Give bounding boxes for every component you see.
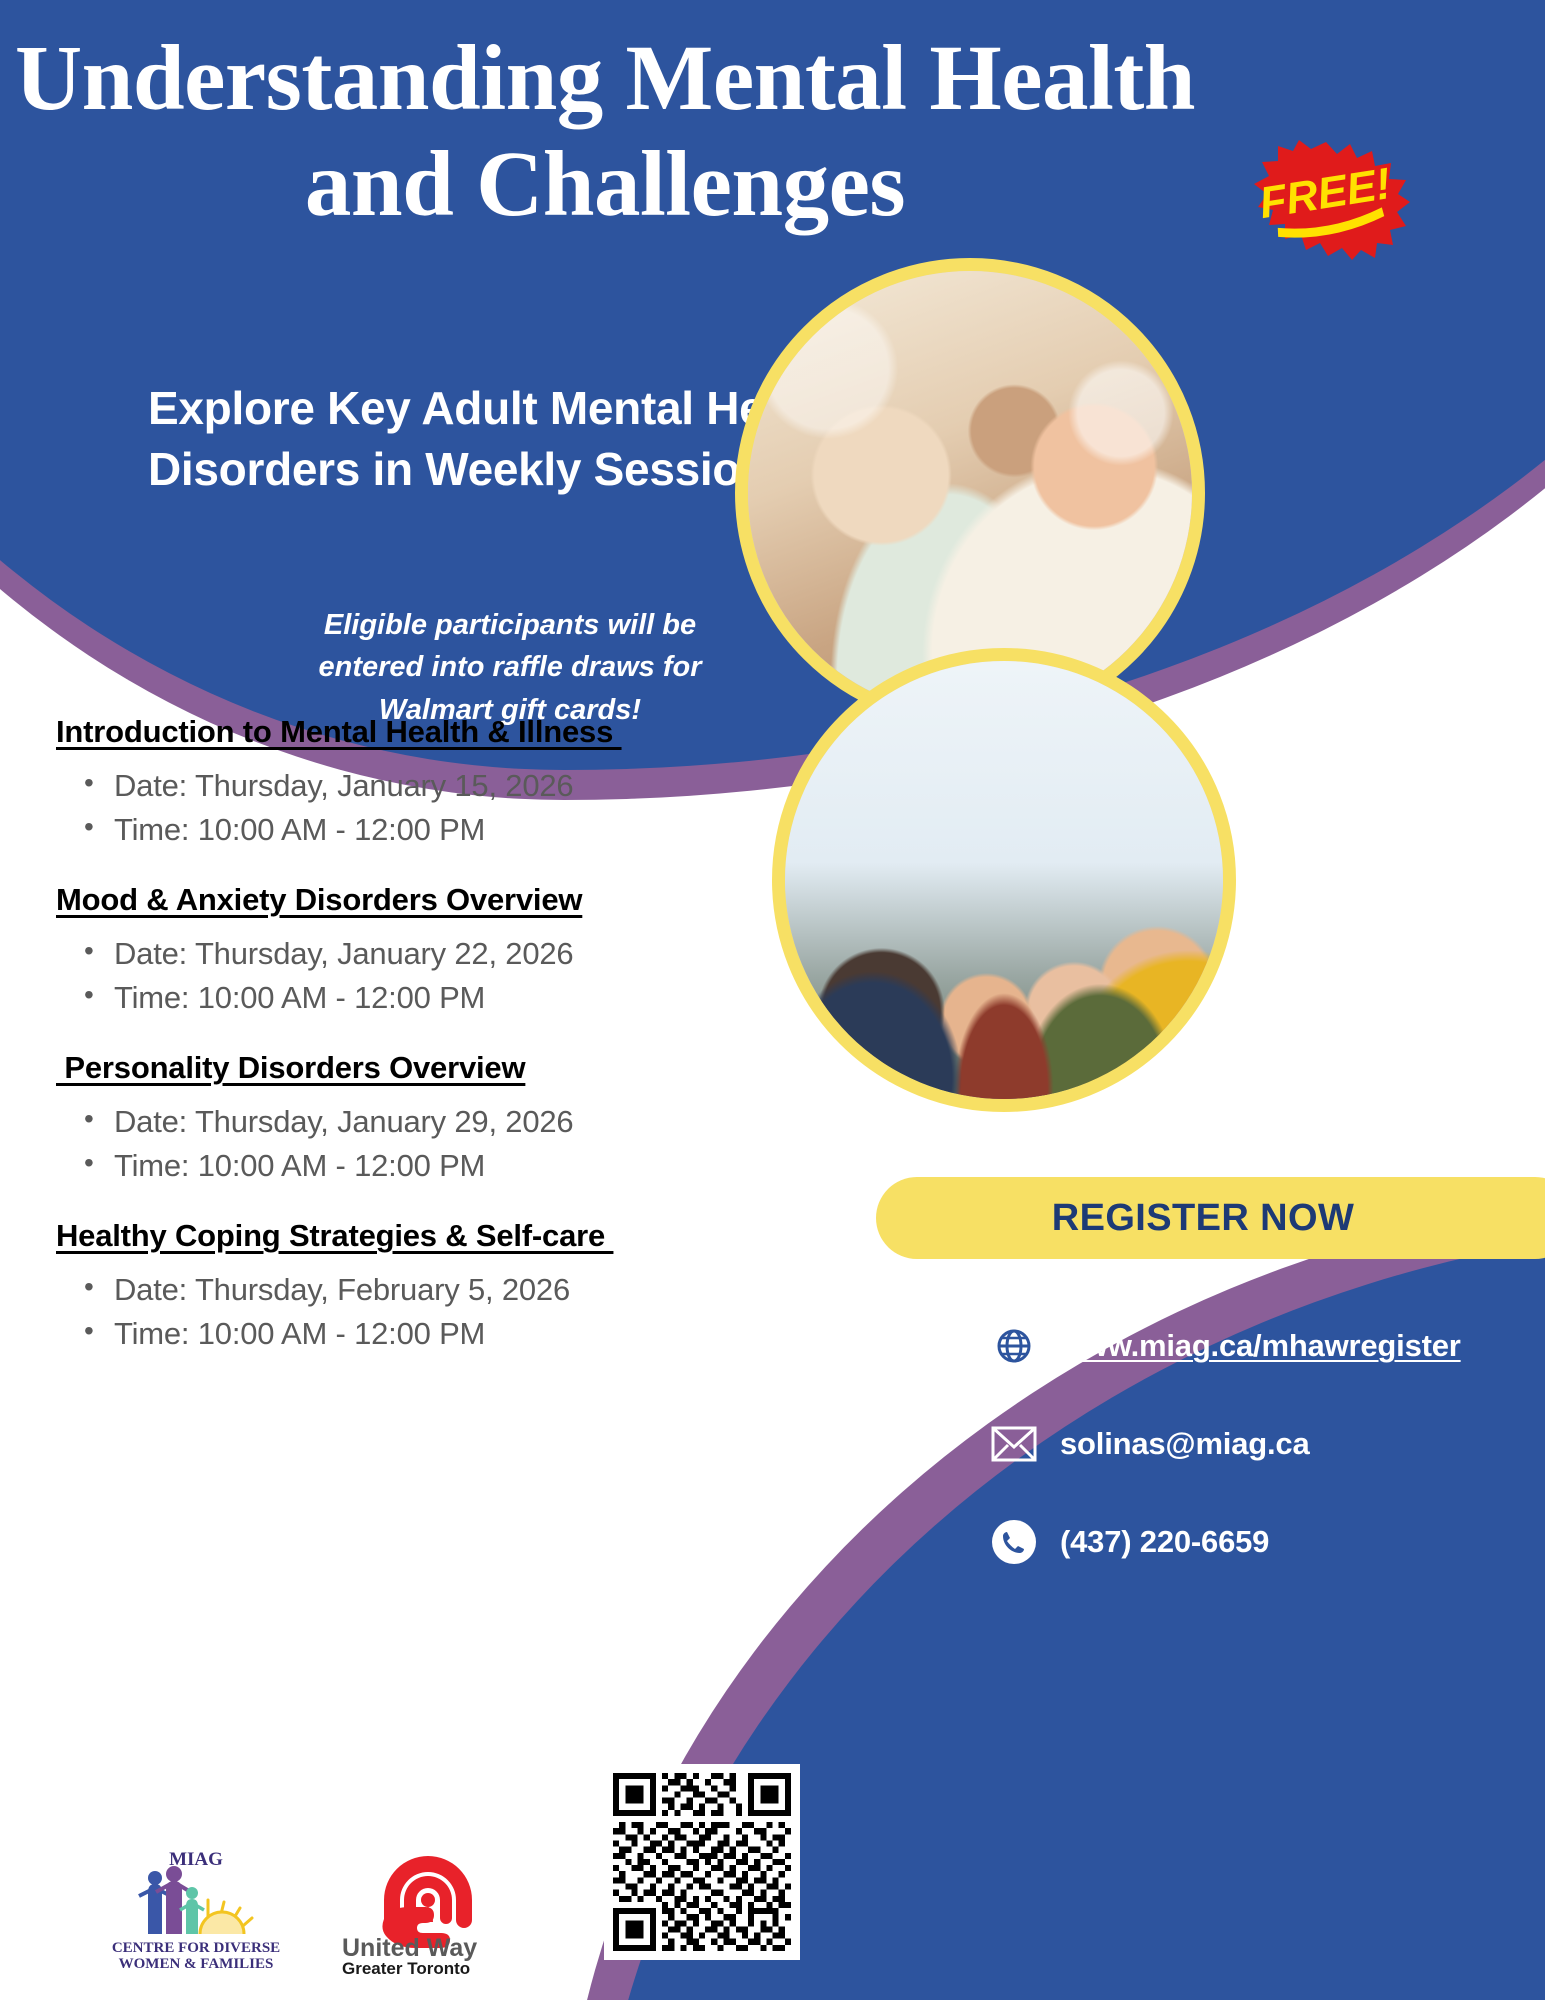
register-now-button[interactable]: REGISTER NOW (876, 1177, 1545, 1259)
session-time: Time: 10:00 AM - 12:00 PM (114, 1312, 756, 1356)
email-address[interactable]: solinas@miag.ca (1060, 1426, 1310, 1462)
session-date: Date: Thursday, January 22, 2026 (114, 932, 756, 976)
united-way-wordmark: United Way (342, 1934, 477, 1962)
session-list: Introduction to Mental Health & Illness … (56, 714, 756, 1362)
contact-email[interactable]: solinas@miag.ca (990, 1420, 1545, 1468)
logo-strip: MIAG (96, 1848, 516, 1978)
miag-logo-tagline-line-1: CENTRE FOR DIVERSE (112, 1940, 280, 1956)
miag-logo: MIAG (96, 1848, 296, 1974)
contact-phone[interactable]: (437) 220-6659 (990, 1518, 1545, 1566)
session-time: Time: 10:00 AM - 12:00 PM (114, 976, 756, 1020)
contact-block: www.miag.ca/mhawregister solinas@miag.ca (990, 1322, 1545, 1616)
session-title: Healthy Coping Strategies & Self-care (56, 1218, 756, 1254)
poster-canvas: Understanding Mental Health and Challeng… (0, 0, 1545, 2000)
website-url[interactable]: www.miag.ca/mhawregister (1060, 1328, 1461, 1364)
session-item: Healthy Coping Strategies & Self-care Da… (56, 1218, 756, 1356)
globe-icon (990, 1322, 1038, 1370)
session-item: Mood & Anxiety Disorders Overview Date: … (56, 882, 756, 1020)
session-title: Mood & Anxiety Disorders Overview (56, 882, 756, 918)
session-title: Personality Disorders Overview (56, 1050, 756, 1086)
session-item: Introduction to Mental Health & Illness … (56, 714, 756, 852)
session-date: Date: Thursday, February 5, 2026 (114, 1268, 756, 1312)
session-time: Time: 10:00 AM - 12:00 PM (114, 1144, 756, 1188)
poster-title-line-1: Understanding Mental Health (0, 26, 1210, 132)
qr-code[interactable] (604, 1764, 800, 1960)
phone-icon (990, 1518, 1038, 1566)
session-time: Time: 10:00 AM - 12:00 PM (114, 808, 756, 852)
photo-image-top (748, 271, 1192, 715)
register-now-label: REGISTER NOW (1052, 1197, 1354, 1240)
poster-title: Understanding Mental Health and Challeng… (0, 26, 1210, 238)
session-item: Personality Disorders Overview Date: Thu… (56, 1050, 756, 1188)
phone-number[interactable]: (437) 220-6659 (1060, 1524, 1269, 1560)
session-details: Date: Thursday, February 5, 2026 Time: 1… (56, 1268, 756, 1356)
session-details: Date: Thursday, January 15, 2026 Time: 1… (56, 764, 756, 852)
contact-website[interactable]: www.miag.ca/mhawregister (990, 1322, 1545, 1370)
miag-logo-tagline-line-2: WOMEN & FAMILIES (119, 1956, 274, 1972)
photo-circle-diverse-group (772, 648, 1236, 1112)
photo-image-bottom (785, 661, 1223, 1099)
session-details: Date: Thursday, January 29, 2026 Time: 1… (56, 1100, 756, 1188)
united-way-logo: United Way Greater Toronto (336, 1850, 521, 1976)
session-date: Date: Thursday, January 29, 2026 (114, 1100, 756, 1144)
envelope-icon (990, 1420, 1038, 1468)
free-badge: FREE! (1240, 140, 1412, 260)
session-details: Date: Thursday, January 22, 2026 Time: 1… (56, 932, 756, 1020)
raffle-note: Eligible participants will be entered in… (300, 604, 720, 731)
poster-title-line-2: and Challenges (0, 132, 1210, 238)
session-title: Introduction to Mental Health & Illness (56, 714, 756, 750)
session-date: Date: Thursday, January 15, 2026 (114, 764, 756, 808)
united-way-region: Greater Toronto (342, 1959, 470, 1976)
